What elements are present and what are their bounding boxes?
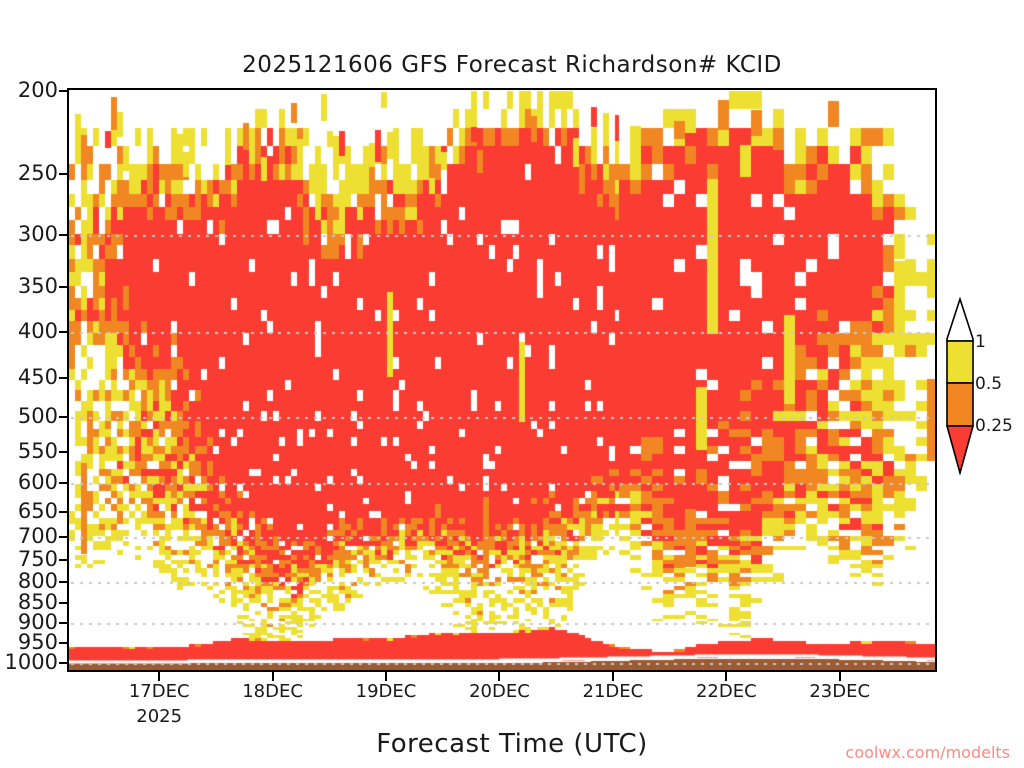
y-axis-tick-label-350: 350	[18, 276, 58, 297]
y-axis-tick-label-700: 700	[18, 526, 58, 547]
y-axis-tick-label-200: 200	[18, 80, 58, 101]
y-axis-tick-label-250: 250	[18, 163, 58, 184]
y-axis-tick-label-500: 500	[18, 406, 58, 427]
colorbar-legend: 1 0.5 0.25	[944, 297, 1024, 475]
y-axis-tick-950	[59, 642, 67, 644]
colorbar-segment-above-1	[947, 299, 973, 341]
x-axis-tick-label-23DEC: 23DEC	[795, 681, 885, 702]
y-axis-tick-label-800: 800	[18, 571, 58, 592]
y-axis-tick-750	[59, 559, 67, 561]
x-axis-tick-label-21DEC: 21DEC	[568, 681, 658, 702]
y-axis-tick-label-750: 750	[18, 549, 58, 570]
colorbar-label-0.25: 0.25	[975, 416, 1013, 436]
y-axis-tick-600	[59, 482, 67, 484]
x-axis-tick-label-22DEC: 22DEC	[681, 681, 771, 702]
heatmap-plot-area	[67, 88, 937, 672]
x-axis-tick-19DEC	[385, 672, 387, 681]
y-axis-tick-400	[59, 331, 67, 333]
y-axis-tick-label-450: 450	[18, 367, 58, 388]
x-axis-tick-22DEC	[725, 672, 727, 681]
y-axis: 2002503003504004505005506006507007508008…	[0, 0, 58, 768]
y-axis-tick-350	[59, 286, 67, 288]
y-axis-tick-label-600: 600	[18, 472, 58, 493]
gridlines-canvas	[69, 90, 935, 670]
x-axis-tick-21DEC	[612, 672, 614, 681]
y-axis-tick-label-300: 300	[18, 224, 58, 245]
y-axis-tick-250	[59, 173, 67, 175]
y-axis-tick-label-650: 650	[18, 501, 58, 522]
x-axis-tick-label-20DEC: 20DEC	[454, 681, 544, 702]
colorbar-label-1: 1	[975, 332, 986, 352]
x-axis-tick-label-18DEC: 18DEC	[228, 681, 318, 702]
x-axis-tick-23DEC	[839, 672, 841, 681]
y-axis-tick-label-1000: 1000	[5, 652, 58, 673]
y-axis-tick-700	[59, 536, 67, 538]
watermark-link[interactable]: coolwx.com/modelts	[846, 743, 1010, 762]
x-axis-tick-17DEC	[158, 672, 160, 681]
y-axis-tick-label-400: 400	[18, 321, 58, 342]
x-axis-tick-20DEC	[498, 672, 500, 681]
x-axis-year-label: 2025	[114, 706, 204, 727]
y-axis-tick-450	[59, 377, 67, 379]
colorbar-segment-orange	[947, 383, 973, 426]
y-axis-tick-800	[59, 581, 67, 583]
y-axis-tick-550	[59, 451, 67, 453]
y-axis-tick-850	[59, 602, 67, 604]
x-axis-tick-label-17DEC: 17DEC	[114, 681, 204, 702]
y-axis-tick-650	[59, 511, 67, 513]
colorbar-segment-yellow	[947, 341, 973, 383]
y-axis-tick-1000	[59, 662, 67, 664]
y-axis-tick-label-550: 550	[18, 441, 58, 462]
colorbar-label-0.5: 0.5	[975, 374, 1002, 394]
colorbar-segment-red	[947, 426, 973, 473]
y-axis-tick-900	[59, 622, 67, 624]
x-axis-tick-label-19DEC: 19DEC	[341, 681, 431, 702]
y-axis-tick-300	[59, 234, 67, 236]
y-axis-tick-200	[59, 90, 67, 92]
y-axis-tick-500	[59, 416, 67, 418]
x-axis-tick-18DEC	[272, 672, 274, 681]
page-title: 2025121606 GFS Forecast Richardson# KCID	[0, 52, 1024, 78]
